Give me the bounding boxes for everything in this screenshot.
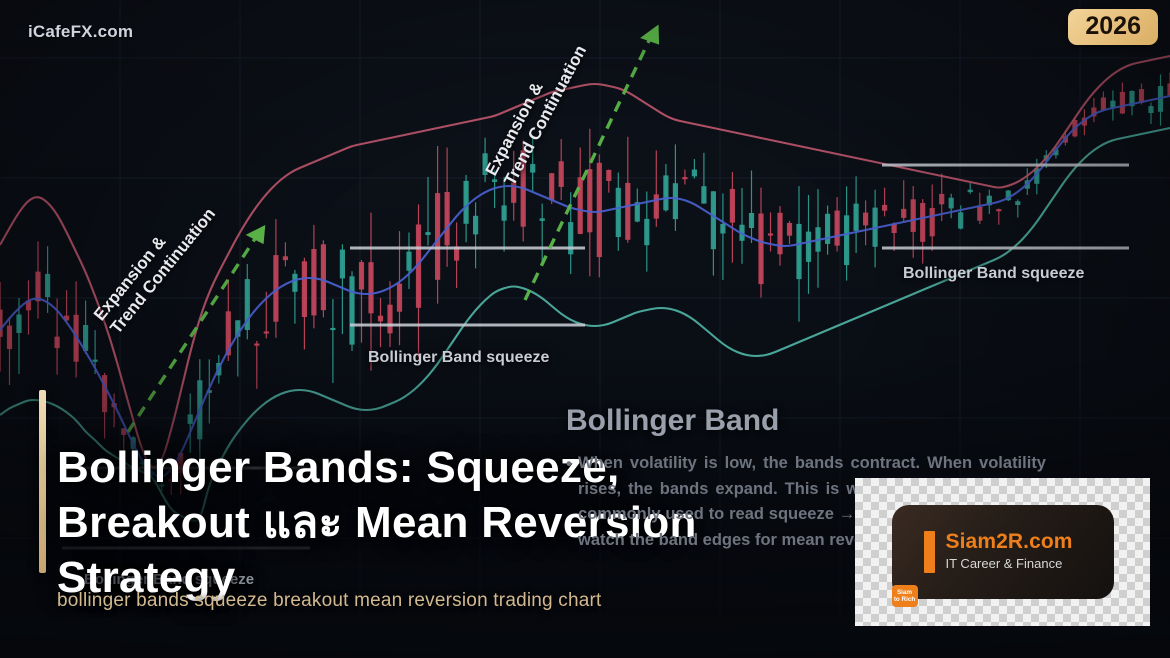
year-badge: 2026 bbox=[1068, 9, 1158, 45]
brand-accent-bar-icon bbox=[924, 531, 935, 573]
brand-corner-tag-line1: Siam bbox=[897, 589, 912, 596]
brand-tagline: IT Career & Finance bbox=[946, 556, 1073, 573]
brand-text-wrap: Siam2R.com IT Career & Finance bbox=[946, 531, 1073, 573]
brand-corner-tag-line2: to Rich bbox=[894, 596, 915, 603]
site-watermark: iCafeFX.com bbox=[28, 22, 133, 42]
annotation-squeeze-right: Bollinger Band squeeze bbox=[903, 265, 1084, 283]
title-accent-bar bbox=[39, 390, 46, 573]
annotation-squeeze-middle: Bollinger Band squeeze bbox=[368, 349, 549, 367]
brand-corner-tag: Siam to Rich bbox=[892, 585, 918, 607]
brand-name: Siam2R.com bbox=[946, 531, 1073, 554]
info-panel-heading: Bollinger Band bbox=[566, 404, 1046, 437]
brand-logo-overlay: Siam2R.com IT Career & Finance Siam to R… bbox=[855, 478, 1150, 626]
keyword-tags: bollinger bands squeeze breakout mean re… bbox=[57, 590, 602, 612]
infographic-canvas: iCafeFX.com 2026 Bollinger Band squeeze … bbox=[0, 0, 1170, 658]
brand-logo-card: Siam2R.com IT Career & Finance Siam to R… bbox=[892, 505, 1114, 599]
bullet-icon: • bbox=[566, 452, 572, 478]
